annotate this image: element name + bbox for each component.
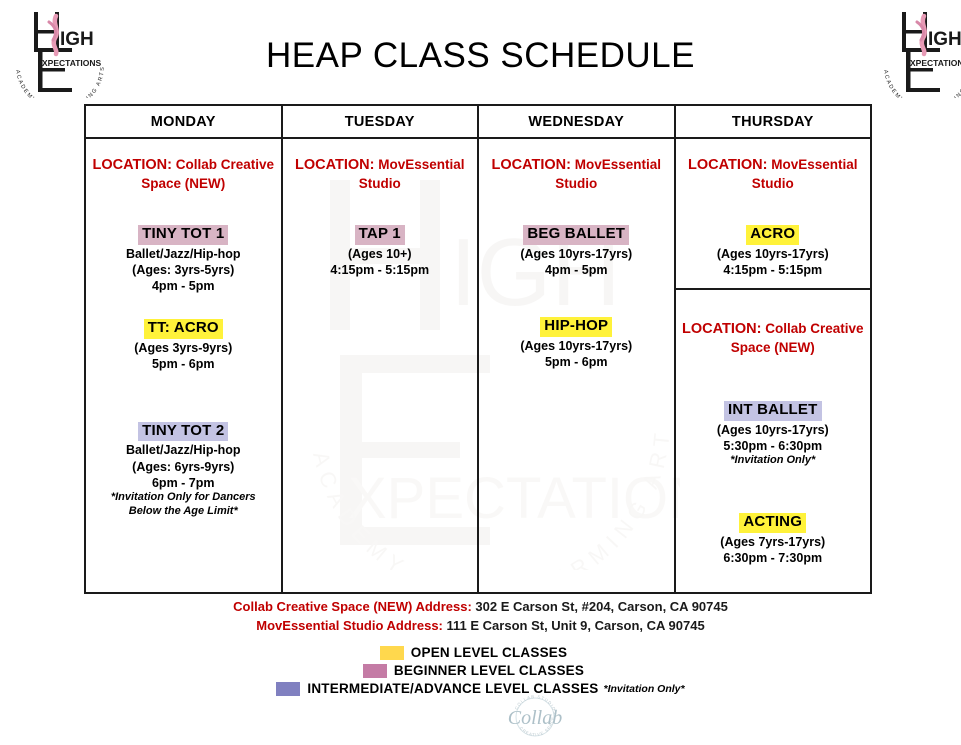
class-schedule-table: MONDAY TUESDAY WEDNESDAY THURSDAY LOCATI… xyxy=(84,104,872,594)
class-time: 5pm - 6pm xyxy=(485,354,668,370)
svg-text:XPECTATIONS: XPECTATIONS xyxy=(42,58,102,68)
legend-label-open: OPEN LEVEL CLASSES xyxy=(411,645,567,660)
legend-label-intermediate: INTERMEDIATE/ADVANCE LEVEL CLASSES xyxy=(307,681,598,696)
thursday-section-1: LOCATION: MovEssential Studio ACRO (Ages… xyxy=(676,139,871,290)
class-time: 5:30pm - 6:30pm xyxy=(682,438,865,454)
class-ages: (Ages 10yrs-17yrs) xyxy=(682,422,865,438)
class-entry-acro[interactable]: ACRO (Ages 10yrs-17yrs) 4:15pm - 5:15pm xyxy=(682,224,865,278)
class-note: *Invitation Only for Dancers Below the A… xyxy=(92,491,275,519)
class-name: TINY TOT 1 xyxy=(138,225,228,245)
column-header-tuesday: TUESDAY xyxy=(283,106,480,137)
day-column-wednesday: LOCATION: MovEssential Studio BEG BALLET… xyxy=(479,139,676,592)
location-heading: LOCATION: Collab Creative Space (NEW) xyxy=(92,156,275,192)
class-style: Ballet/Jazz/Hip-hop xyxy=(92,442,275,458)
legend-swatch-intermediate xyxy=(276,682,300,696)
legend-note-invitation-only: *Invitation Only* xyxy=(603,683,684,695)
class-name: TT: ACRO xyxy=(144,319,223,339)
class-time: 5pm - 6pm xyxy=(92,356,275,372)
class-entry-tt-acro[interactable]: TT: ACRO (Ages 3yrs-9yrs) 5pm - 6pm xyxy=(92,318,275,372)
class-time: 4:15pm - 5:15pm xyxy=(289,262,472,278)
column-header-monday: MONDAY xyxy=(86,106,283,137)
svg-text:Collab: Collab xyxy=(508,707,562,729)
class-ages: (Ages: 3yrs-5yrs) xyxy=(92,262,275,278)
class-ages: (Ages 10yrs-17yrs) xyxy=(682,246,865,262)
legend-swatch-open xyxy=(380,646,404,660)
address-label: MovEssential Studio Address: xyxy=(256,618,443,633)
location-value: MovEssential Studio xyxy=(752,157,858,191)
collab-footer-logo: COLLAB STUDIOS CREATIVE SPACE Collab xyxy=(450,695,620,740)
schedule-body-row: LOCATION: Collab Creative Space (NEW) TI… xyxy=(86,139,870,592)
address-line-movessential: MovEssential Studio Address: 111 E Carso… xyxy=(0,617,961,636)
class-entry-int-ballet[interactable]: INT BALLET (Ages 10yrs-17yrs) 5:30pm - 6… xyxy=(682,400,865,468)
tuesday-section-1: LOCATION: MovEssential Studio TAP 1 (Age… xyxy=(283,139,478,592)
monday-section-1: LOCATION: Collab Creative Space (NEW) TI… xyxy=(86,139,281,592)
level-legend: OPEN LEVEL CLASSES BEGINNER LEVEL CLASSE… xyxy=(0,644,961,698)
page-title: HEAP CLASS SCHEDULE xyxy=(0,36,961,76)
class-entry-tiny-tot-1[interactable]: TINY TOT 1 Ballet/Jazz/Hip-hop (Ages: 3y… xyxy=(92,224,275,295)
address-line-collab: Collab Creative Space (NEW) Address: 302… xyxy=(0,598,961,617)
location-label: LOCATION: xyxy=(688,157,767,173)
legend-item-intermediate: INTERMEDIATE/ADVANCE LEVEL CLASSES *Invi… xyxy=(0,680,961,697)
class-name: TINY TOT 2 xyxy=(138,422,228,442)
location-value: MovEssential Studio xyxy=(555,157,661,191)
location-label: LOCATION: xyxy=(92,157,171,173)
class-entry-acting[interactable]: ACTING (Ages 7yrs-17yrs) 6:30pm - 7:30pm xyxy=(682,512,865,566)
class-time: 6pm - 7pm xyxy=(92,475,275,491)
location-label: LOCATION: xyxy=(682,321,761,337)
class-ages: (Ages: 6yrs-9yrs) xyxy=(92,459,275,475)
class-entry-tiny-tot-2[interactable]: TINY TOT 2 Ballet/Jazz/Hip-hop (Ages: 6y… xyxy=(92,421,275,519)
location-value: MovEssential Studio xyxy=(359,157,465,191)
academy-logo-right: IGH XPECTATIONS ACADEMY OF PERFORMING AR… xyxy=(876,8,961,98)
class-name: HIP-HOP xyxy=(540,317,612,337)
class-entry-beg-ballet[interactable]: BEG BALLET (Ages 10yrs-17yrs) 4pm - 5pm xyxy=(485,224,668,278)
legend-item-beginner: BEGINNER LEVEL CLASSES xyxy=(0,662,961,679)
day-column-tuesday: LOCATION: MovEssential Studio TAP 1 (Age… xyxy=(283,139,480,592)
svg-text:XPECTATIONS: XPECTATIONS xyxy=(910,58,961,68)
location-heading: LOCATION: MovEssential Studio xyxy=(485,156,668,192)
class-time: 4pm - 5pm xyxy=(485,262,668,278)
svg-text:IGH: IGH xyxy=(928,29,961,50)
class-name: ACRO xyxy=(746,225,799,245)
class-time: 4pm - 5pm xyxy=(92,278,275,294)
location-heading: LOCATION: MovEssential Studio xyxy=(289,156,472,192)
day-column-monday: LOCATION: Collab Creative Space (NEW) TI… xyxy=(86,139,283,592)
location-label: LOCATION: xyxy=(491,157,570,173)
day-column-thursday: LOCATION: MovEssential Studio ACRO (Ages… xyxy=(676,139,871,592)
class-ages: (Ages 7yrs-17yrs) xyxy=(682,534,865,550)
legend-item-open: OPEN LEVEL CLASSES xyxy=(0,644,961,661)
class-time: 4:15pm - 5:15pm xyxy=(682,262,865,278)
address-label: Collab Creative Space (NEW) Address: xyxy=(233,599,472,614)
wednesday-section-1: LOCATION: MovEssential Studio BEG BALLET… xyxy=(479,139,674,592)
academy-logo-left: IGH XPECTATIONS ACADEMY OF PERFORMING AR… xyxy=(8,8,112,98)
legend-label-beginner: BEGINNER LEVEL CLASSES xyxy=(394,663,584,678)
svg-text:IGH: IGH xyxy=(60,29,94,50)
thursday-section-2: LOCATION: Collab Creative Space (NEW) IN… xyxy=(676,290,871,592)
legend-swatch-beginner xyxy=(363,664,387,678)
location-heading: LOCATION: MovEssential Studio xyxy=(682,156,865,192)
class-ages: (Ages 10yrs-17yrs) xyxy=(485,246,668,262)
addresses-block: Collab Creative Space (NEW) Address: 302… xyxy=(0,598,961,636)
column-header-thursday: THURSDAY xyxy=(676,106,871,137)
class-note: *Invitation Only* xyxy=(682,454,865,468)
schedule-header-row: MONDAY TUESDAY WEDNESDAY THURSDAY xyxy=(86,106,870,139)
class-time: 6:30pm - 7:30pm xyxy=(682,550,865,566)
location-label: LOCATION: xyxy=(295,157,374,173)
class-name: BEG BALLET xyxy=(523,225,629,245)
class-name: TAP 1 xyxy=(355,225,405,245)
location-heading: LOCATION: Collab Creative Space (NEW) xyxy=(682,320,865,356)
class-ages: (Ages 10yrs-17yrs) xyxy=(485,338,668,354)
class-name: ACTING xyxy=(739,513,806,533)
address-value: 111 E Carson St, Unit 9, Carson, CA 9074… xyxy=(447,618,705,633)
class-ages: (Ages 10+) xyxy=(289,246,472,262)
class-entry-hip-hop[interactable]: HIP-HOP (Ages 10yrs-17yrs) 5pm - 6pm xyxy=(485,316,668,370)
class-ages: (Ages 3yrs-9yrs) xyxy=(92,340,275,356)
class-style: Ballet/Jazz/Hip-hop xyxy=(92,246,275,262)
column-header-wednesday: WEDNESDAY xyxy=(479,106,676,137)
class-name: INT BALLET xyxy=(724,401,822,421)
class-entry-tap-1[interactable]: TAP 1 (Ages 10+) 4:15pm - 5:15pm xyxy=(289,224,472,278)
address-value: 302 E Carson St, #204, Carson, CA 90745 xyxy=(475,599,727,614)
